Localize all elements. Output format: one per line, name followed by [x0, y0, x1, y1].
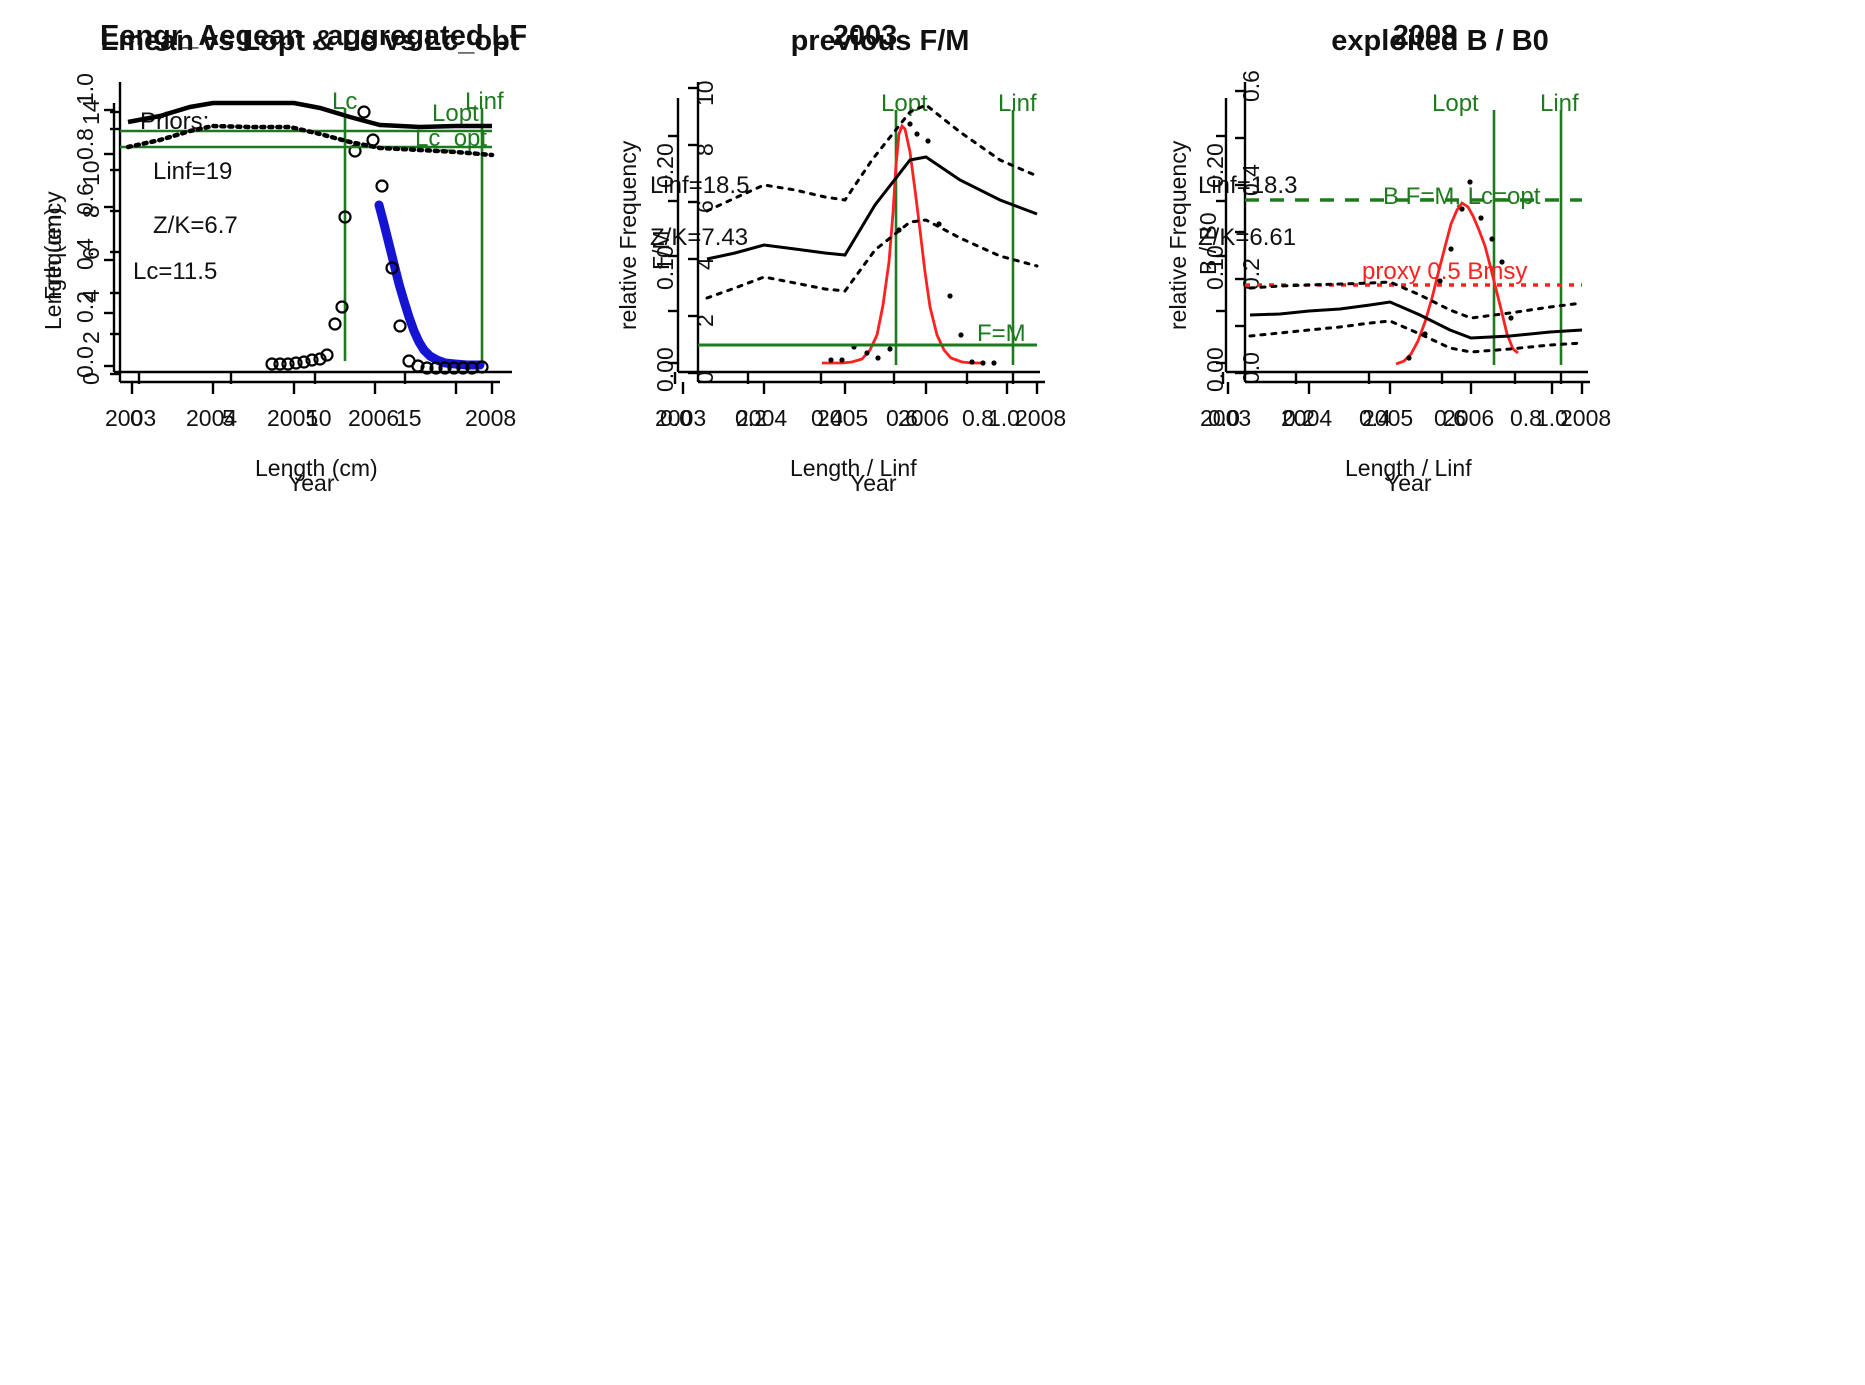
y-axis-ticks-lmean [110, 112, 120, 374]
figure-canvas: Eengr_Aegean , aggregated LF Frequency L… [0, 0, 1865, 1385]
panel-previous-fm: previous F/M F/M Year 0 2 4 6 8 10 2003 … [600, 0, 1160, 520]
y-axis-ticks-fm [688, 88, 698, 373]
series-lmean [128, 103, 492, 127]
x-axis-ticks-lmean [132, 382, 492, 394]
panel-lmean-vs-lopt: Lmean vs Lopt & Lc vs Lc_opt Length (cm)… [0, 0, 620, 520]
panel-exploited-b-b0: exploited B / B0 B / B0 Year 0.0 0.2 0.4… [1140, 0, 1865, 520]
x-axis-ticks-fm [683, 382, 1037, 394]
series-fm-estimate [707, 157, 1037, 259]
plot-lmean [0, 0, 620, 520]
series-bb0-lower [1250, 321, 1582, 352]
plot-fm [600, 0, 1160, 520]
plot-bb0 [1140, 0, 1865, 520]
x-axis-ticks-bb0 [1228, 382, 1582, 394]
y-axis-ticks-bb0 [1235, 91, 1245, 373]
series-fm-lower [707, 220, 1037, 298]
